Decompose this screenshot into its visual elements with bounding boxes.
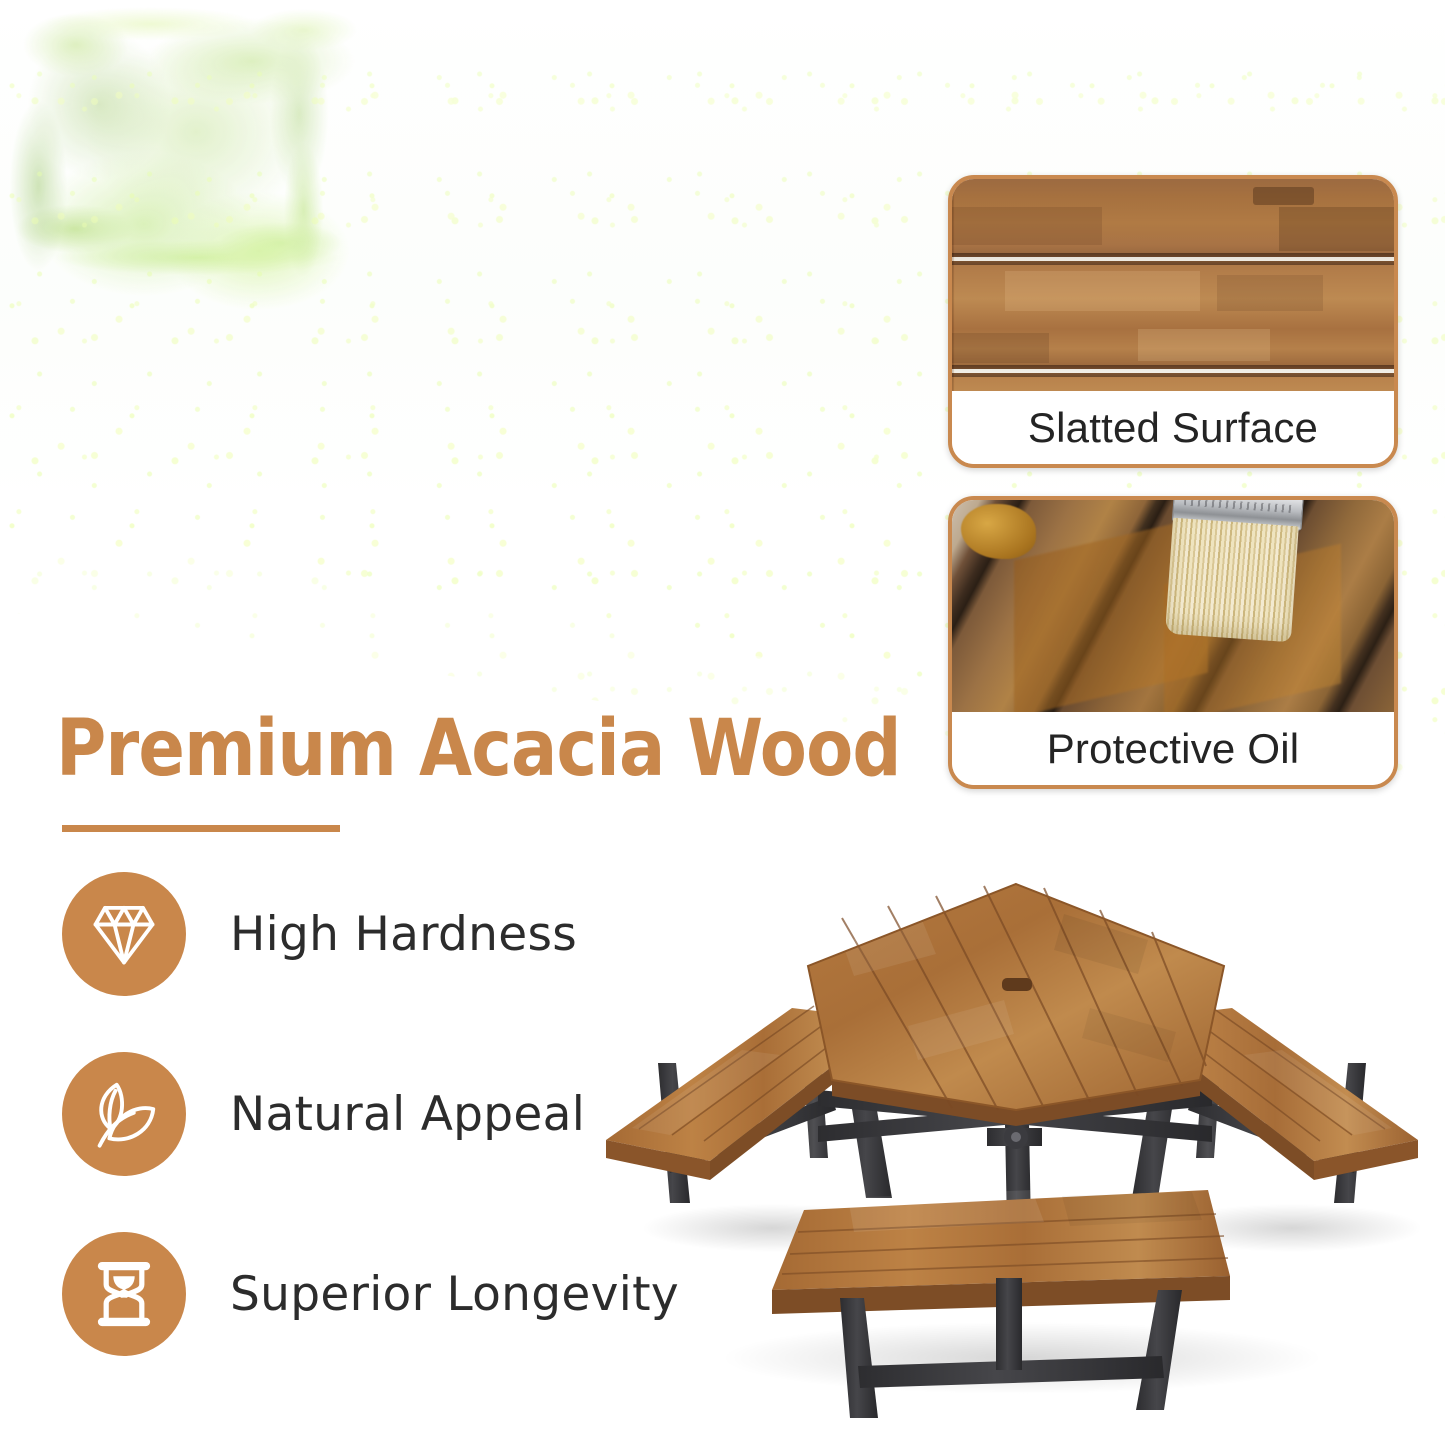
title-underline-rule xyxy=(62,825,340,832)
leaves-icon xyxy=(62,1052,186,1176)
feature-item-high-hardness: High Hardness xyxy=(62,872,577,996)
feature-item-natural-appeal: Natural Appeal xyxy=(62,1052,585,1176)
paintbrush-icon xyxy=(1164,500,1302,640)
hourglass-icon xyxy=(62,1232,186,1356)
product-image-picnic-table xyxy=(592,858,1432,1428)
callout-card-protective-oil[interactable]: Protective Oil xyxy=(948,496,1398,789)
wood-grain-overlay xyxy=(952,179,1394,391)
slatted-surface-photo xyxy=(952,179,1394,391)
diamond-icon xyxy=(62,872,186,996)
callout-card-slatted-surface[interactable]: Slatted Surface xyxy=(948,175,1398,468)
hexagonal-table-top xyxy=(808,884,1224,1126)
page-title: Premium Acacia Wood xyxy=(56,704,901,794)
card-caption-label: Slatted Surface xyxy=(952,391,1394,464)
feature-label: Natural Appeal xyxy=(230,1087,585,1142)
product-feature-banner: Slatted Surface Protective Oil Premium A… xyxy=(0,0,1445,1445)
feature-label: High Hardness xyxy=(230,907,577,962)
protective-oil-photo xyxy=(952,500,1394,712)
feature-item-superior-longevity: Superior Longevity xyxy=(62,1232,679,1356)
card-caption-label: Protective Oil xyxy=(952,712,1394,785)
brush-bristles xyxy=(1165,518,1298,642)
